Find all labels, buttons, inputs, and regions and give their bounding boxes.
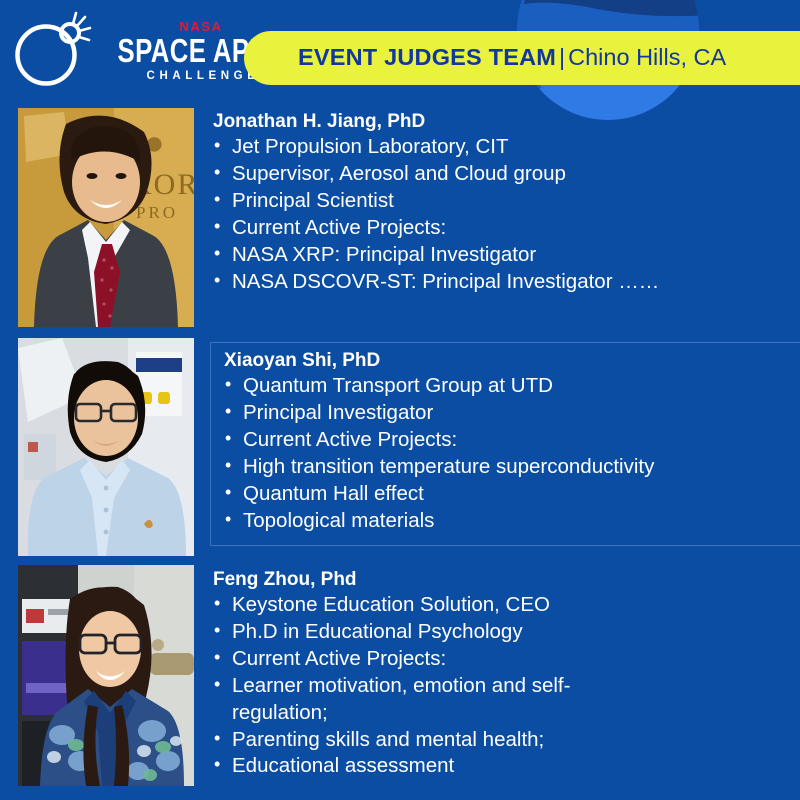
banner-separator: | [556,44,568,70]
judge-photo [18,338,194,556]
logo-challenge-text: CHALLENGE [147,71,260,83]
banner-title: EVENT JUDGES TEAM [298,44,556,70]
list-item: Quantum Hall effect [221,481,794,508]
list-item: Supervisor, Aerosol and Cloud group [210,161,794,188]
judge-bullet-list: Quantum Transport Group at UTD Principal… [221,373,794,534]
banner-location: Chino Hills, CA [568,44,726,70]
judge-bullet-list: Jet Propulsion Laboratory, CIT Superviso… [210,134,794,295]
nasa-space-apps-logo: NASA SPACE APPS CHALLENGE [14,6,246,96]
list-item: Keystone Education Solution, CEO [210,592,794,619]
judge-bio: Jonathan H. Jiang, PhD Jet Propulsion La… [200,105,800,333]
list-item: High transition temperature superconduct… [221,454,794,481]
judge-bio: Feng Zhou, Phd Keystone Education Soluti… [200,563,800,793]
poster: NASA SPACE APPS CHALLENGE EVENT JUDGES T… [0,0,800,800]
event-banner: EVENT JUDGES TEAM|Chino Hills, CA [244,31,800,85]
list-item: Current Active Projects: [210,646,794,673]
list-item: Parenting skills and mental health; [210,727,794,754]
banner-text: EVENT JUDGES TEAM|Chino Hills, CA [298,46,726,70]
judge-name: Xiaoyan Shi, PhD [224,350,794,372]
judge-photo: ● KOR PRO [18,108,194,327]
list-item: NASA XRP: Principal Investigator [210,242,794,269]
list-item: Current Active Projects: [221,427,794,454]
judge-profile: ● KOR PRO Jonathan H. Jiang, [0,105,800,333]
list-item: NASA DSCOVR-ST: Principal Investigator …… [210,269,794,296]
judge-name: Feng Zhou, Phd [213,569,794,591]
space-apps-planet-icon [14,9,92,93]
judge-bio: Xiaoyan Shi, PhD Quantum Transport Group… [210,342,800,546]
list-item: Learner motivation, emotion and self-reg… [210,673,632,727]
svg-text:PRO: PRO [136,203,178,222]
list-item: Principal Scientist [210,188,794,215]
judge-name: Jonathan H. Jiang, PhD [213,111,794,133]
list-item: Jet Propulsion Laboratory, CIT [210,134,794,161]
list-item: Educational assessment [210,753,794,780]
judge-profile: Feng Zhou, Phd Keystone Education Soluti… [0,563,800,793]
judge-bullet-list: Keystone Education Solution, CEO Ph.D in… [210,592,794,780]
judge-profile: Xiaoyan Shi, PhD Quantum Transport Group… [0,335,800,563]
list-item: Principal Investigator [221,400,794,427]
list-item: Topological materials [221,508,794,535]
judge-photo [18,565,194,786]
list-item: Quantum Transport Group at UTD [221,373,794,400]
list-item: Ph.D in Educational Psychology [210,619,794,646]
list-item: Current Active Projects: [210,215,794,242]
